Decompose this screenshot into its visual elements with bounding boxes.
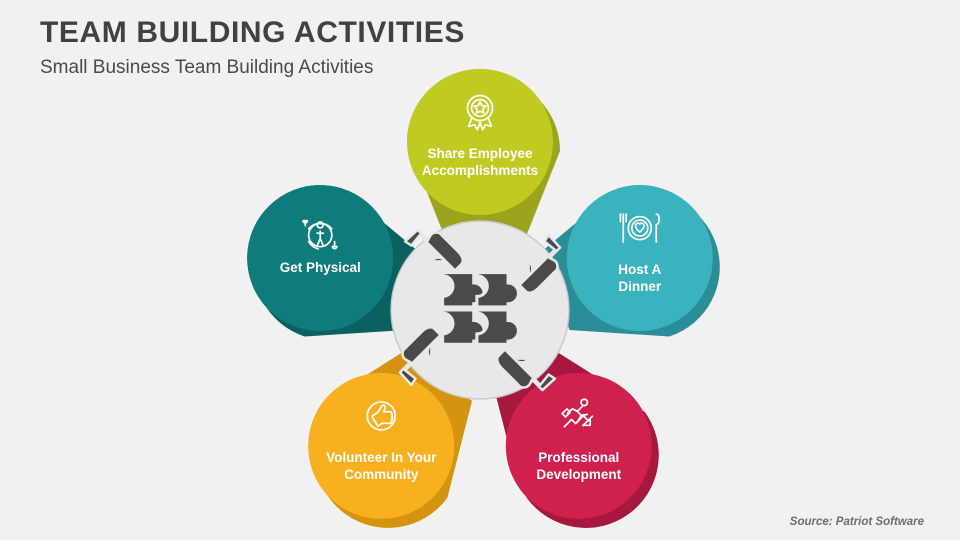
petal-circle[interactable] xyxy=(506,373,652,519)
diagram-canvas xyxy=(0,0,960,540)
page-title: TEAM BUILDING ACTIVITIES xyxy=(40,16,465,51)
page-subtitle: Small Business Team Building Activities xyxy=(40,57,465,79)
radial-petal-diagram: Share Employee AccomplishmentsHost A Din… xyxy=(0,0,960,540)
petal-circle[interactable] xyxy=(407,69,553,215)
petal-circle[interactable] xyxy=(308,373,454,519)
petal-circle[interactable] xyxy=(247,185,393,331)
source-note: Source: Patriot Software xyxy=(790,516,924,528)
center-hub xyxy=(391,221,569,399)
slide-header: TEAM BUILDING ACTIVITIES Small Business … xyxy=(40,16,465,79)
petal-circle[interactable] xyxy=(567,185,713,331)
petal-share-employee-accomplishments[interactable] xyxy=(407,69,560,244)
